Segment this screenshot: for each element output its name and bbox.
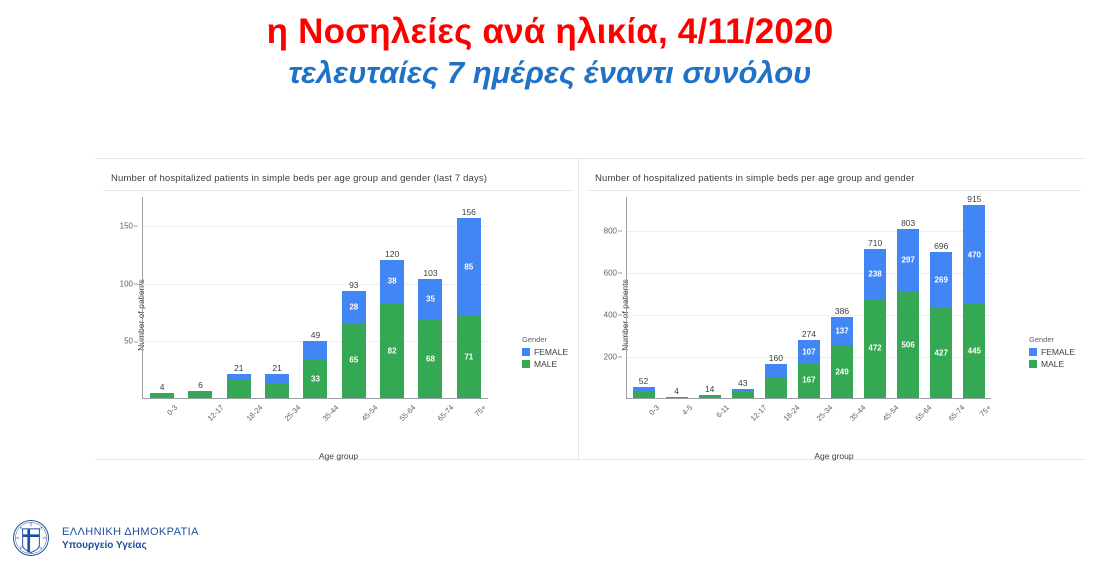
bar-column[interactable]: 160 [765, 197, 787, 398]
bar-total-label: 120 [368, 249, 416, 259]
bar-segment-female[interactable]: 238 [864, 249, 886, 299]
y-axis-line [142, 197, 143, 399]
bar-total-label: 6 [176, 380, 224, 390]
y-axis-tick-label: 200 [587, 352, 617, 361]
bar-segment-value-male: 82 [380, 346, 404, 355]
bar-segment-male[interactable] [699, 396, 721, 398]
legend-item-male[interactable]: MALE [522, 359, 568, 369]
bar-total-label: 160 [753, 353, 799, 363]
bar-total-label: 52 [621, 376, 667, 386]
bar-segment-female[interactable]: 28 [342, 291, 366, 323]
bar-segment-female[interactable] [265, 374, 289, 384]
legend-item-male[interactable]: MALE [1029, 359, 1075, 369]
bar-segment-female[interactable]: 470 [963, 205, 985, 304]
bar-segment-value-female: 35 [418, 295, 442, 304]
x-axis-tick-label: 25-34 [283, 403, 303, 423]
bar-column[interactable]: 1568571 [457, 197, 481, 398]
bar-segment-male[interactable] [765, 378, 787, 398]
x-axis-tick-label: 0-3 [165, 403, 179, 417]
x-axis-tick-label: 12-17 [206, 403, 226, 423]
bar-segment-female[interactable]: 137 [831, 317, 853, 346]
bar-segment-value-male: 445 [963, 347, 985, 356]
bar-segment-male[interactable]: 506 [897, 292, 919, 398]
bar-segment-male[interactable]: 445 [963, 304, 985, 398]
bar-total-label: 915 [951, 194, 997, 204]
chart-card-last7days: Number of hospitalized patients in simpl… [95, 159, 579, 459]
x-axis-tick-label: 0-3 [647, 403, 661, 417]
x-axis-tick-label: 4-5 [680, 403, 694, 417]
bar-column[interactable]: 803297506 [897, 197, 919, 398]
bar-segment-male[interactable] [633, 392, 655, 398]
x-axis-labels: 0-34-56-1112-1718-2425-3435-4445-5455-64… [627, 399, 991, 433]
bar-segment-value-female: 38 [380, 277, 404, 286]
bar-column[interactable]: 4933 [303, 197, 327, 398]
bar-segment-male[interactable] [732, 392, 754, 398]
bar-total-label: 696 [918, 241, 964, 251]
y-axis-tick-label: 150 [103, 221, 133, 230]
bar-column[interactable]: 696269427 [930, 197, 952, 398]
page-title: η Νοσηλείες ανά ηλικία, 4/11/2020 [0, 12, 1100, 52]
bar-column[interactable]: 4 [150, 197, 174, 398]
legend-label-male: MALE [534, 359, 557, 369]
chart-title: Number of hospitalized patients in simpl… [103, 169, 574, 190]
bar-total-label: 21 [253, 363, 301, 373]
bar-total-label: 803 [885, 218, 931, 228]
bar-column[interactable]: 52 [633, 197, 655, 398]
x-axis-tick-label: 45-54 [359, 403, 379, 423]
chart-plot-area: Number of patients Gender FEMALE MALE Ag… [587, 197, 1081, 433]
bar-segment-value-female: 107 [798, 347, 820, 356]
bar-total-label: 156 [445, 207, 493, 217]
bar-segment-value-male: 68 [418, 354, 442, 363]
x-axis-title: Age group [587, 451, 1081, 461]
bar-segment-male[interactable]: 33 [303, 360, 327, 398]
y-axis-tick-label: 50 [103, 337, 133, 346]
bar-segment-value-male: 249 [831, 367, 853, 376]
bar-total-label: 386 [819, 306, 865, 316]
bar-segment-female[interactable]: 269 [930, 252, 952, 309]
slide-title-block: η Νοσηλείες ανά ηλικία, 4/11/2020 τελευτ… [0, 0, 1100, 91]
bar-segment-female[interactable]: 38 [380, 260, 404, 304]
bar-segment-male[interactable] [150, 393, 174, 398]
bar-column[interactable]: 386137249 [831, 197, 853, 398]
bar-segment-value-male: 167 [798, 376, 820, 385]
bar-column[interactable]: 710238472 [864, 197, 886, 398]
legend-title: Gender [1029, 335, 1075, 344]
bar-column[interactable]: 21 [265, 197, 289, 398]
footer-line-2: Υπουργείο Υγείας [62, 540, 199, 551]
bar-segment-value-female: 297 [897, 256, 919, 265]
bar-segment-female[interactable]: 107 [798, 340, 820, 363]
bar-column[interactable]: 915470445 [963, 197, 985, 398]
x-axis-tick-label: 6-11 [714, 403, 731, 420]
bar-total-label: 43 [720, 378, 766, 388]
bar-segment-value-female: 470 [963, 250, 985, 259]
bar-segment-male[interactable]: 68 [418, 320, 442, 398]
y-axis-ticks: 50100150 [103, 197, 137, 399]
bar-column[interactable]: 14 [699, 197, 721, 398]
bar-total-label: 710 [852, 238, 898, 248]
footer-line-1: ΕΛΛΗΝΙΚΗ ΔΗΜΟΚΡΑΤΙΑ [62, 526, 199, 538]
bar-segment-male[interactable] [666, 397, 688, 398]
chart-legend: Gender FEMALE MALE [1029, 335, 1075, 371]
x-axis-tick-label: 75+ [978, 403, 993, 418]
bar-segment-value-female: 269 [930, 275, 952, 284]
page-subtitle: τελευταίες 7 ημέρες έναντι συνόλου [0, 54, 1100, 91]
legend-item-female[interactable]: FEMALE [522, 347, 568, 357]
legend-label-male: MALE [1041, 359, 1064, 369]
x-axis-tick-label: 75+ [473, 403, 488, 418]
bar-segment-male[interactable] [188, 391, 212, 398]
x-axis-tick-label: 55-64 [398, 403, 418, 423]
bar-segment-male[interactable] [265, 384, 289, 398]
x-axis-tick-label: 18-24 [244, 403, 264, 423]
x-axis-tick-label: 35-44 [321, 403, 341, 423]
bar-segment-value-female: 85 [457, 262, 481, 271]
bar-segment-value-male: 71 [457, 353, 481, 362]
bar-segment-male[interactable]: 427 [930, 308, 952, 398]
chart-title: Number of hospitalized patients in simpl… [587, 169, 1081, 190]
bar-segment-value-male: 65 [342, 356, 366, 365]
bar-segment-female[interactable]: 35 [418, 279, 442, 319]
bar-total-label: 103 [406, 268, 454, 278]
bar-segment-value-female: 137 [831, 327, 853, 336]
bar-segment-male[interactable]: 249 [831, 346, 853, 398]
bar-segment-female[interactable]: 85 [457, 218, 481, 316]
legend-swatch-male-icon [1029, 360, 1037, 368]
bar-segment-value-male: 506 [897, 340, 919, 349]
bar-group: 4621214933932865120388210335681568571 [143, 197, 488, 398]
x-axis-title: Age group [103, 451, 574, 461]
chart-title-divider [103, 190, 574, 191]
x-axis-tick-label: 65-74 [436, 403, 456, 423]
footer-text: ΕΛΛΗΝΙΚΗ ΔΗΜΟΚΡΑΤΙΑ Υπουργείο Υγείας [62, 526, 199, 551]
legend-label-female: FEMALE [1041, 347, 1075, 357]
plot-canvas: 5241443160274107167386137249710238472803… [627, 197, 991, 399]
bar-segment-female[interactable]: 297 [897, 229, 919, 291]
y-axis-ticks: 200400600800 [587, 197, 621, 399]
y-axis-tick-label: 600 [587, 268, 617, 277]
bar-segment-value-male: 472 [864, 344, 886, 353]
bar-segment-value-female: 28 [342, 302, 366, 311]
bar-segment-male[interactable]: 472 [864, 299, 886, 398]
x-axis-labels: 0-312-1718-2425-3435-4445-5455-6465-7475… [143, 399, 488, 433]
bar-segment-male[interactable]: 65 [342, 323, 366, 398]
bar-column[interactable]: 21 [227, 197, 251, 398]
bar-segment-male[interactable]: 71 [457, 316, 481, 398]
footer-branding: ΕΛΛΗΝΙΚΗ ΔΗΜΟΚΡΑΤΙΑ Υπουργείο Υγείας [12, 519, 199, 557]
bar-column[interactable]: 43 [732, 197, 754, 398]
chart-title-divider [587, 190, 1081, 191]
chart-card-total: Number of hospitalized patients in simpl… [579, 159, 1085, 459]
bar-segment-female[interactable] [765, 364, 787, 377]
bar-column[interactable]: 4 [666, 197, 688, 398]
bar-group: 5241443160274107167386137249710238472803… [627, 197, 991, 398]
legend-swatch-male-icon [522, 360, 530, 368]
bar-segment-value-female: 238 [864, 269, 886, 278]
bar-segment-male[interactable]: 167 [798, 363, 820, 398]
legend-title: Gender [522, 335, 568, 344]
y-axis-tick-label: 400 [587, 310, 617, 319]
dashboard-panel: Number of hospitalized patients in simpl… [95, 158, 1085, 460]
legend-swatch-female-icon [522, 348, 530, 356]
bar-total-label: 49 [291, 330, 339, 340]
legend-label-female: FEMALE [534, 347, 568, 357]
bar-column[interactable]: 1203882 [380, 197, 404, 398]
bar-total-label: 274 [786, 329, 832, 339]
y-axis-tick-label: 800 [587, 226, 617, 235]
legend-item-female[interactable]: FEMALE [1029, 347, 1075, 357]
bar-column[interactable]: 6 [188, 197, 212, 398]
y-axis-line [626, 197, 627, 399]
legend-swatch-female-icon [1029, 348, 1037, 356]
bar-segment-value-male: 427 [930, 349, 952, 358]
chart-plot-area: Number of patients Gender FEMALE MALE Ag… [103, 197, 574, 433]
y-axis-tick-label: 100 [103, 279, 133, 288]
bar-total-label: 93 [330, 280, 378, 290]
bar-segment-male[interactable]: 82 [380, 303, 404, 398]
bar-column[interactable]: 932865 [342, 197, 366, 398]
bar-segment-male[interactable] [227, 380, 251, 398]
greek-coat-of-arms-icon [12, 519, 50, 557]
plot-canvas: 4621214933932865120388210335681568571 [143, 197, 488, 399]
bar-segment-value-male: 33 [303, 374, 327, 383]
chart-legend: Gender FEMALE MALE [522, 335, 568, 371]
bar-column[interactable]: 1033568 [418, 197, 442, 398]
bar-column[interactable]: 274107167 [798, 197, 820, 398]
bar-segment-female[interactable] [303, 341, 327, 359]
